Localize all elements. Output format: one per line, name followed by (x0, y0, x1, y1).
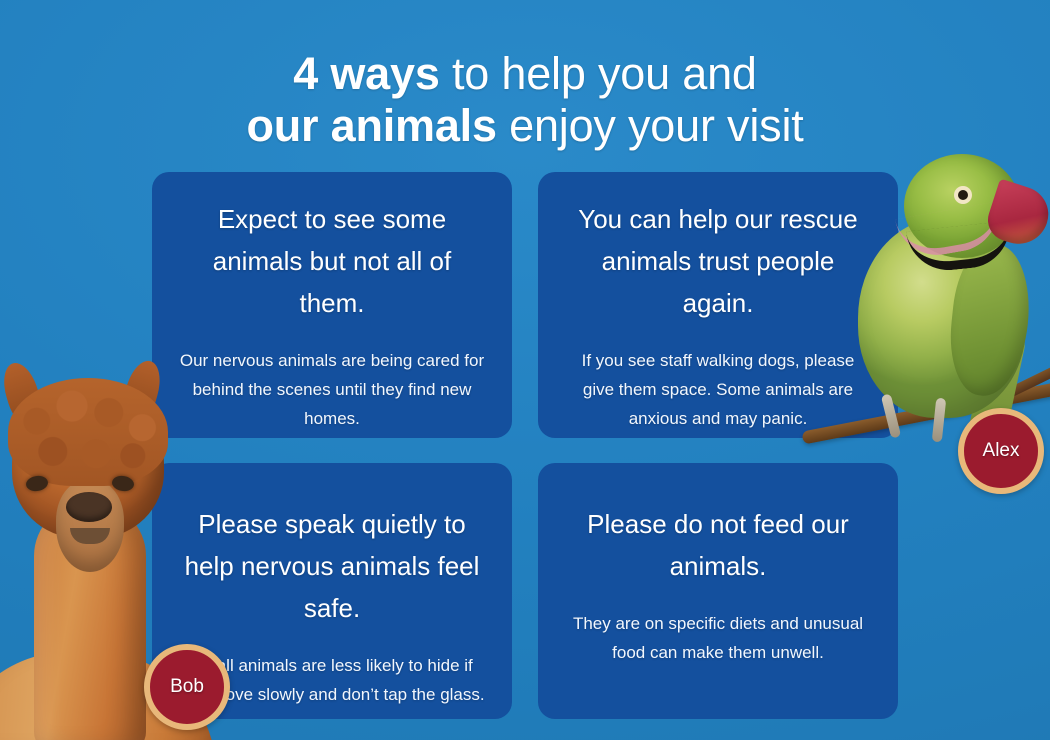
tip-card-heading: Please speak quietly to help nervous ani… (178, 503, 486, 629)
name-badge-label: Alex (983, 440, 1020, 462)
tip-card-body: Our nervous animals are being cared for … (178, 346, 486, 433)
tip-card-body: If you see staff walking dogs, please gi… (564, 346, 872, 433)
name-badge-label: Bob (170, 676, 204, 698)
tip-card-heading: Expect to see some animals but not all o… (178, 198, 486, 324)
alpaca-fringe (8, 378, 168, 486)
parrot-eye (954, 186, 972, 204)
tip-card-heading: You can help our rescue animals trust pe… (564, 198, 872, 324)
poster-canvas: 4 ways to help you and our animals enjoy… (0, 0, 1050, 740)
name-badge-alex: Alex (958, 408, 1044, 494)
tip-card-heading: Please do not feed our animals. (564, 503, 872, 587)
tip-card-do-not-feed: Please do not feed our animals. They are… (538, 463, 898, 719)
name-badge-bob: Bob (144, 644, 230, 730)
alpaca-nose (66, 492, 112, 522)
tip-card-body: They are on specific diets and unusual f… (564, 609, 872, 667)
